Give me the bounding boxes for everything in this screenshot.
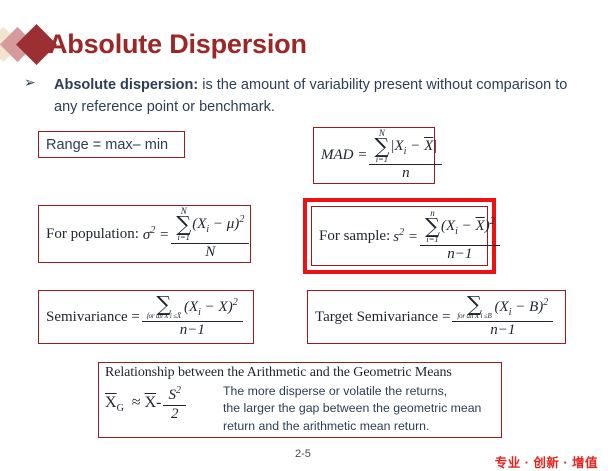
geometric-mean-frac-numerator: S2	[163, 386, 186, 406]
formula-box-mad: MAD = N ∑ i=1 |Xi − X| n	[313, 127, 435, 184]
slide-title-row: Absolute Dispersion	[0, 22, 608, 66]
sigma-glyph-icon: ∑	[156, 296, 171, 313]
sample-numerator-expression: (Xi − X)2	[441, 218, 495, 234]
target-semivariance-denominator: n−1	[485, 322, 520, 339]
mad-label: MAD =	[321, 147, 367, 164]
sigma-glyph-icon: ∑	[425, 218, 440, 235]
mad-numerator: N ∑ i=1 |Xi − X|	[369, 129, 442, 166]
semivariance-sum-lower: for all X i ≤X̄	[147, 313, 181, 320]
semivariance-numerator-expression: (Xi − X)2	[184, 299, 238, 315]
summation-icon: N ∑ i=1	[176, 207, 191, 242]
summation-icon: n ∑ i=1	[425, 209, 440, 244]
mad-denominator: n	[397, 165, 415, 182]
formula-box-semivariance: Semivariance = ∑ for all X i ≤X̄ (Xi − X…	[38, 290, 254, 344]
bullet-text: Absolute dispersion: is the amount of va…	[54, 74, 584, 119]
mad-sum-lower: i=1	[376, 155, 388, 164]
sample-variance-symbol: s2 =	[393, 227, 418, 246]
formula-box-sample-variance: For sample: s2 = n ∑ i=1 (Xi − X)2 n−1	[311, 206, 488, 266]
bullet-block: ➢ Absolute dispersion: is the amount of …	[24, 74, 584, 119]
mad-fraction: N ∑ i=1 |Xi − X| n	[369, 129, 442, 182]
sample-variance-fraction: n ∑ i=1 (Xi − X)2 n−1	[420, 209, 500, 262]
semivariance-numerator: ∑ for all X i ≤X̄ (Xi − X)2	[142, 296, 243, 322]
pop-sum-lower: i=1	[178, 233, 190, 242]
sample-sum-lower: i=1	[426, 235, 438, 244]
formula-box-target-semivariance: Target Semivariance = ∑ for all X i ≤B (…	[307, 290, 566, 344]
sample-variance-label: For sample:	[319, 228, 390, 245]
sigma-glyph-icon: ∑	[374, 138, 389, 155]
range-formula-label: Range = max– min	[46, 137, 168, 153]
page-title: Absolute Dispersion	[48, 29, 307, 60]
target-semivariance-sum-lower: for all X i ≤B	[457, 313, 491, 320]
summation-icon: N ∑ i=1	[374, 129, 389, 164]
target-semivariance-fraction: ∑ for all X i ≤B (Xi − B)2 n−1	[452, 296, 553, 339]
population-variance-numerator: N ∑ i=1 (Xi − μ)2	[171, 207, 249, 244]
diamond-decoration-icon	[0, 22, 52, 66]
geometric-mean-frac-denominator: 2	[166, 406, 184, 423]
summation-icon: ∑ for all X i ≤X̄	[147, 296, 181, 320]
diamond-dark-red-icon	[16, 24, 57, 65]
sigma-glyph-icon: ∑	[176, 216, 191, 233]
formula-box-range: Range = max– min	[38, 131, 185, 158]
population-variance-denominator: N	[200, 244, 220, 261]
semivariance-fraction: ∑ for all X i ≤X̄ (Xi − X)2 n−1	[142, 296, 243, 339]
pop-numerator-expression: (Xi − μ)2	[192, 216, 244, 232]
geometric-mean-expression: XG ≈ X-	[105, 394, 161, 414]
mad-numerator-expression: |Xi − X|	[390, 138, 437, 154]
population-variance-fraction: N ∑ i=1 (Xi − μ)2 N	[171, 207, 249, 260]
sample-variance-numerator: n ∑ i=1 (Xi − X)2	[420, 209, 500, 246]
slide-canvas: Absolute Dispersion ➢ Absolute dispersio…	[0, 0, 608, 471]
page-number: 2-5	[295, 448, 311, 460]
relationship-heading: Relationship between the Arithmetic and …	[105, 365, 496, 381]
relationship-body: XG ≈ X- S2 2 The more disperse or volati…	[105, 382, 496, 435]
sigma-glyph-icon: ∑	[467, 296, 482, 313]
summation-icon: ∑ for all X i ≤B	[457, 296, 491, 320]
population-variance-symbol: σ2 =	[143, 225, 169, 244]
population-variance-label: For population:	[46, 226, 139, 243]
target-semivariance-label: Target Semivariance =	[315, 309, 450, 326]
geometric-mean-formula: XG ≈ X- S2 2	[105, 382, 223, 423]
geometric-mean-fraction: S2 2	[163, 386, 186, 423]
target-semivariance-numerator: ∑ for all X i ≤B (Xi − B)2	[452, 296, 553, 322]
relationship-note: The more disperse or volatile the return…	[223, 382, 481, 435]
relationship-box: Relationship between the Arithmetic and …	[98, 362, 502, 438]
brand-slogan: 专业 · 创新 · 增值	[495, 452, 598, 471]
target-semivariance-numerator-expression: (Xi − B)2	[495, 299, 549, 315]
semivariance-label: Semivariance =	[46, 309, 140, 326]
semivariance-denominator: n−1	[175, 322, 210, 339]
formula-box-population-variance: For population: σ2 = N ∑ i=1 (Xi − μ)2 N	[38, 205, 251, 263]
bullet-lead-term: Absolute dispersion:	[54, 77, 198, 93]
sample-variance-denominator: n−1	[442, 246, 477, 263]
arrow-bullet-icon: ➢	[24, 75, 36, 89]
